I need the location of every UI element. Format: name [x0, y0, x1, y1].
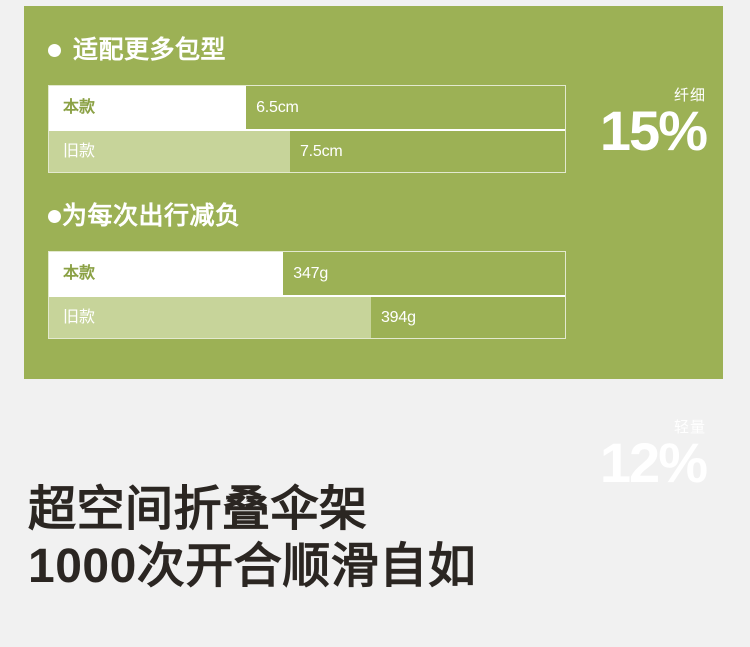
- spec-heading-label: 为每次出行减负: [62, 204, 241, 229]
- bar-row-value: 394g: [381, 310, 416, 326]
- bar-row: 本款 6.5cm: [49, 86, 565, 129]
- bullet-dot-icon: [48, 44, 61, 57]
- bar-row: 旧款 7.5cm: [49, 129, 565, 172]
- comparison-panel: 适配更多包型 本款 6.5cm 旧款 7.5cm 纤细 15% 为每次出行减负: [24, 6, 723, 379]
- product-headline: 超空间折叠伞架 1000次开合顺滑自如: [28, 482, 476, 595]
- bar-row: 旧款 394g: [49, 295, 565, 338]
- bar-row-label: 旧款: [63, 310, 95, 326]
- bar-row-label: 旧款: [63, 144, 95, 160]
- callout-figure: 12%: [600, 437, 706, 489]
- headline-line-2: 1000次开合顺滑自如: [28, 539, 476, 596]
- bar-table-weight: 本款 347g 旧款 394g: [48, 251, 566, 339]
- bar-row-value: 6.5cm: [256, 100, 299, 116]
- bullet-dot-icon: [48, 210, 61, 223]
- callout-thickness: 纤细 15%: [600, 88, 706, 157]
- bar-fill-previous: [49, 297, 371, 338]
- callout-weight: 轻量 12%: [600, 420, 706, 489]
- bar-row-label: 本款: [63, 266, 95, 282]
- callout-figure: 15%: [600, 105, 706, 157]
- bar-table-thickness: 本款 6.5cm 旧款 7.5cm: [48, 85, 566, 173]
- spec-heading-weight: 为每次出行减负: [48, 204, 241, 229]
- spec-heading-thickness: 适配更多包型: [48, 38, 226, 63]
- bar-row-label: 本款: [63, 100, 95, 116]
- bar-row-value: 7.5cm: [300, 144, 343, 160]
- spec-heading-label: 适配更多包型: [73, 38, 226, 63]
- headline-line-1: 超空间折叠伞架: [28, 482, 476, 539]
- bar-row: 本款 347g: [49, 252, 565, 295]
- bar-row-value: 347g: [293, 266, 328, 282]
